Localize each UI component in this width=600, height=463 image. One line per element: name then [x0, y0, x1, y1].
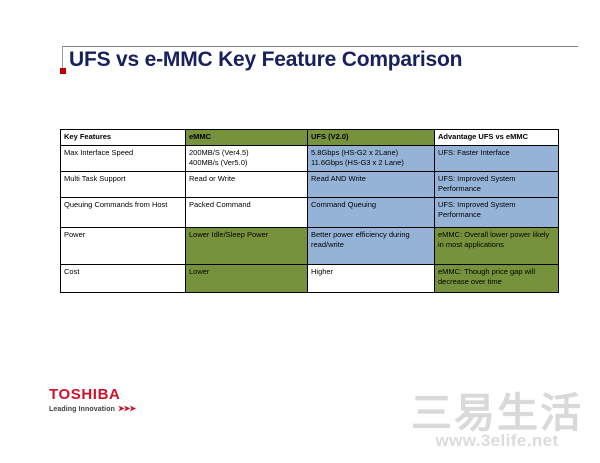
ufs-vs-emmc-comparison-table: Key Features eMMC UFS (V2.0) Advantage U…	[60, 129, 559, 293]
cell-emmc: Read or Write	[186, 172, 308, 198]
slide-title-block: UFS vs e-MMC Key Feature Comparison	[62, 46, 578, 82]
watermark-brand-text: 三易生活	[398, 392, 596, 435]
cell-ufs: Read AND Write	[308, 172, 435, 198]
cell-feature: Cost	[61, 264, 186, 292]
toshiba-wordmark: TOSHIBA	[49, 387, 159, 402]
cell-emmc: Lower	[186, 264, 308, 292]
cell-feature: Power	[61, 227, 186, 264]
page-title: UFS vs e-MMC Key Feature Comparison	[69, 48, 462, 72]
cell-feature: Queuing Commands from Host	[61, 197, 186, 227]
cell-feature: Max Interface Speed	[61, 146, 186, 172]
cell-advantage: eMMC: Though price gap will decrease ove…	[435, 264, 559, 292]
toshiba-logo: TOSHIBA Leading Innovation ➤➤➤	[49, 387, 159, 413]
chevron-right-icon: ➤➤➤	[118, 405, 135, 413]
cell-emmc: Lower Idle/Sleep Power	[186, 227, 308, 264]
column-header-emmc: eMMC	[186, 130, 308, 146]
table-row: Multi Task Support Read or Write Read AN…	[61, 172, 559, 198]
title-red-square-marker	[60, 68, 66, 74]
cell-advantage: eMMC: Overall lower power likely in most…	[435, 227, 559, 264]
cell-ufs: 5.8Gbps (HS-G2 x 2Lane)11.6Gbps (HS-G3 x…	[308, 146, 435, 172]
toshiba-tagline: Leading Innovation	[49, 406, 115, 413]
cell-advantage: UFS: Improved System Performance	[435, 172, 559, 198]
cell-emmc: Packed Command	[186, 197, 308, 227]
cell-emmc: 200MB/S (Ver4.5)400MB/s (Ver5.0)	[186, 146, 308, 172]
table-row: Power Lower Idle/Sleep Power Better powe…	[61, 227, 559, 264]
table-row: Max Interface Speed 200MB/S (Ver4.5)400M…	[61, 146, 559, 172]
toshiba-tagline-row: Leading Innovation ➤➤➤	[49, 405, 159, 413]
cell-ufs: Better power efficiency during read/writ…	[308, 227, 435, 264]
column-header-key-features: Key Features	[61, 130, 186, 146]
column-header-advantage: Advantage UFS vs eMMC	[435, 130, 559, 146]
cell-feature: Multi Task Support	[61, 172, 186, 198]
cell-ufs: Higher	[308, 264, 435, 292]
table-header-row: Key Features eMMC UFS (V2.0) Advantage U…	[61, 130, 559, 146]
cell-advantage: UFS: Faster Interface	[435, 146, 559, 172]
title-top-divider	[62, 46, 578, 47]
table-row: Queuing Commands from Host Packed Comman…	[61, 197, 559, 227]
cell-advantage: UFS: Improved System Performance	[435, 197, 559, 227]
column-header-ufs: UFS (V2.0)	[308, 130, 435, 146]
cell-ufs: Command Queuing	[308, 197, 435, 227]
table-row: Cost Lower Higher eMMC: Though price gap…	[61, 264, 559, 292]
site-watermark: 三易生活 www.3elife.net	[398, 392, 596, 451]
